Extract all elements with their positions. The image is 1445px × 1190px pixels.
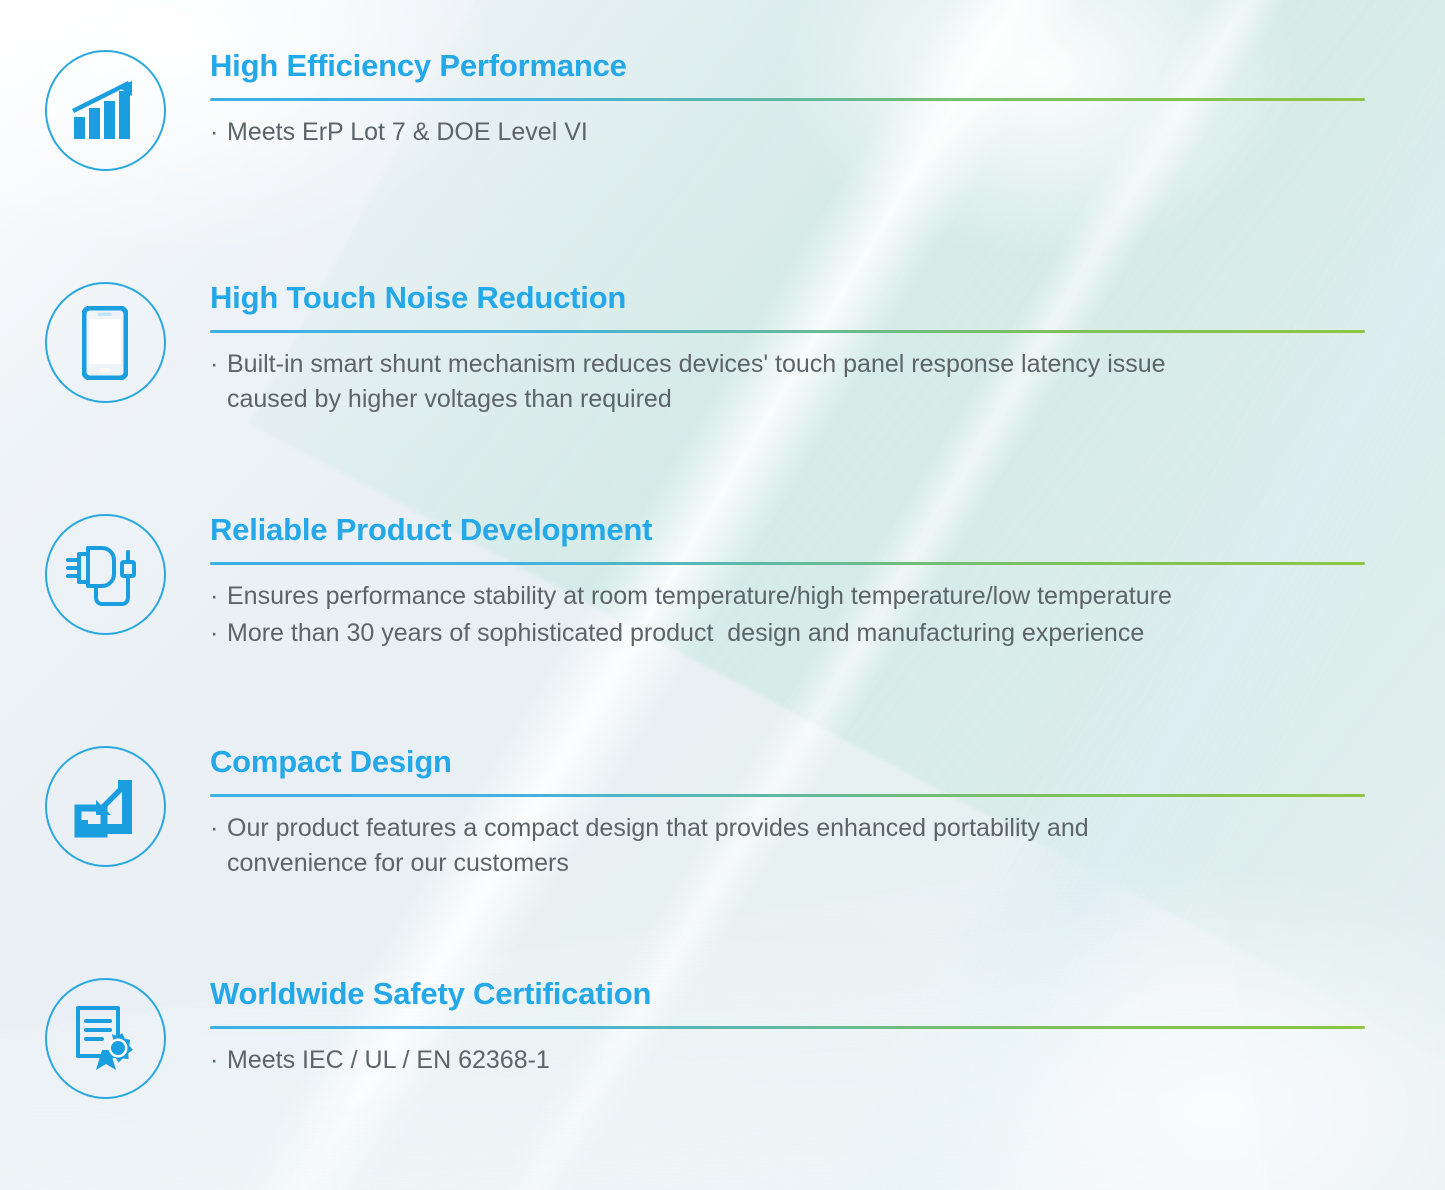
feature-text-block: Worldwide Safety Certification · Meets I… [210, 956, 1445, 1078]
bullet-marker: · [210, 115, 227, 151]
feature-divider [210, 562, 1365, 565]
feature-title: Compact Design [210, 744, 1365, 781]
feature-divider [210, 98, 1365, 101]
compact-resize-icon [45, 746, 166, 867]
feature-icon-container [0, 260, 210, 403]
feature-text-block: High Efficiency Performance · Meets ErP … [210, 28, 1445, 150]
feature-text-block: Compact Design · Our product features a … [210, 724, 1445, 882]
bullet-text: Built-in smart shunt mechanism reduces d… [227, 347, 1365, 418]
bullet-item: · Meets ErP Lot 7 & DOE Level VI [210, 115, 1365, 151]
feature-divider [210, 1026, 1365, 1029]
bullet-item: · Built-in smart shunt mechanism reduces… [210, 347, 1365, 418]
feature-divider [210, 794, 1365, 797]
bullet-marker: · [210, 1043, 227, 1079]
bullet-item: · More than 30 years of sophisticated pr… [210, 616, 1365, 652]
feature-text-block: Reliable Product Development · Ensures p… [210, 492, 1445, 652]
feature-bullets: · Our product features a compact design … [210, 811, 1365, 882]
bullet-item: · Our product features a compact design … [210, 811, 1365, 882]
feature-bullets: · Ensures performance stability at room … [210, 579, 1365, 652]
certificate-award-icon [45, 978, 166, 1099]
feature-text-block: High Touch Noise Reduction · Built-in sm… [210, 260, 1445, 418]
bullet-marker: · [210, 579, 227, 615]
feature-title: Reliable Product Development [210, 512, 1365, 549]
feature-icon-container [0, 956, 210, 1099]
smartphone-icon [45, 282, 166, 403]
feature-item-reliable-product-development: Reliable Product Development · Ensures p… [0, 492, 1445, 724]
bullet-marker: · [210, 347, 227, 418]
feature-list: High Efficiency Performance · Meets ErP … [0, 0, 1445, 1190]
bullet-item: · Meets IEC / UL / EN 62368-1 [210, 1043, 1365, 1079]
feature-bullets: · Meets IEC / UL / EN 62368-1 [210, 1043, 1365, 1079]
bullet-text: More than 30 years of sophisticated prod… [227, 616, 1365, 652]
feature-title: High Efficiency Performance [210, 48, 1365, 85]
feature-bullets: · Meets ErP Lot 7 & DOE Level VI [210, 115, 1365, 151]
feature-item-high-efficiency-performance: High Efficiency Performance · Meets ErP … [0, 28, 1445, 260]
feature-item-compact-design: Compact Design · Our product features a … [0, 724, 1445, 956]
bullet-marker: · [210, 616, 227, 652]
bullet-item: · Ensures performance stability at room … [210, 579, 1365, 615]
feature-icon-container [0, 724, 210, 867]
bullet-text: Meets IEC / UL / EN 62368-1 [227, 1043, 1365, 1079]
feature-title: High Touch Noise Reduction [210, 280, 1365, 317]
bullet-text: Ensures performance stability at room te… [227, 579, 1365, 615]
feature-item-high-touch-noise-reduction: High Touch Noise Reduction · Built-in sm… [0, 260, 1445, 492]
bullet-text: Our product features a compact design th… [227, 811, 1365, 882]
feature-icon-container [0, 28, 210, 171]
feature-item-worldwide-safety-certification: Worldwide Safety Certification · Meets I… [0, 956, 1445, 1188]
bullet-marker: · [210, 811, 227, 882]
bullet-text: Meets ErP Lot 7 & DOE Level VI [227, 115, 1365, 151]
feature-title: Worldwide Safety Certification [210, 976, 1365, 1013]
feature-bullets: · Built-in smart shunt mechanism reduces… [210, 347, 1365, 418]
feature-icon-container [0, 492, 210, 635]
bar-chart-growth-icon [45, 50, 166, 171]
power-adapter-icon [45, 514, 166, 635]
feature-divider [210, 330, 1365, 333]
